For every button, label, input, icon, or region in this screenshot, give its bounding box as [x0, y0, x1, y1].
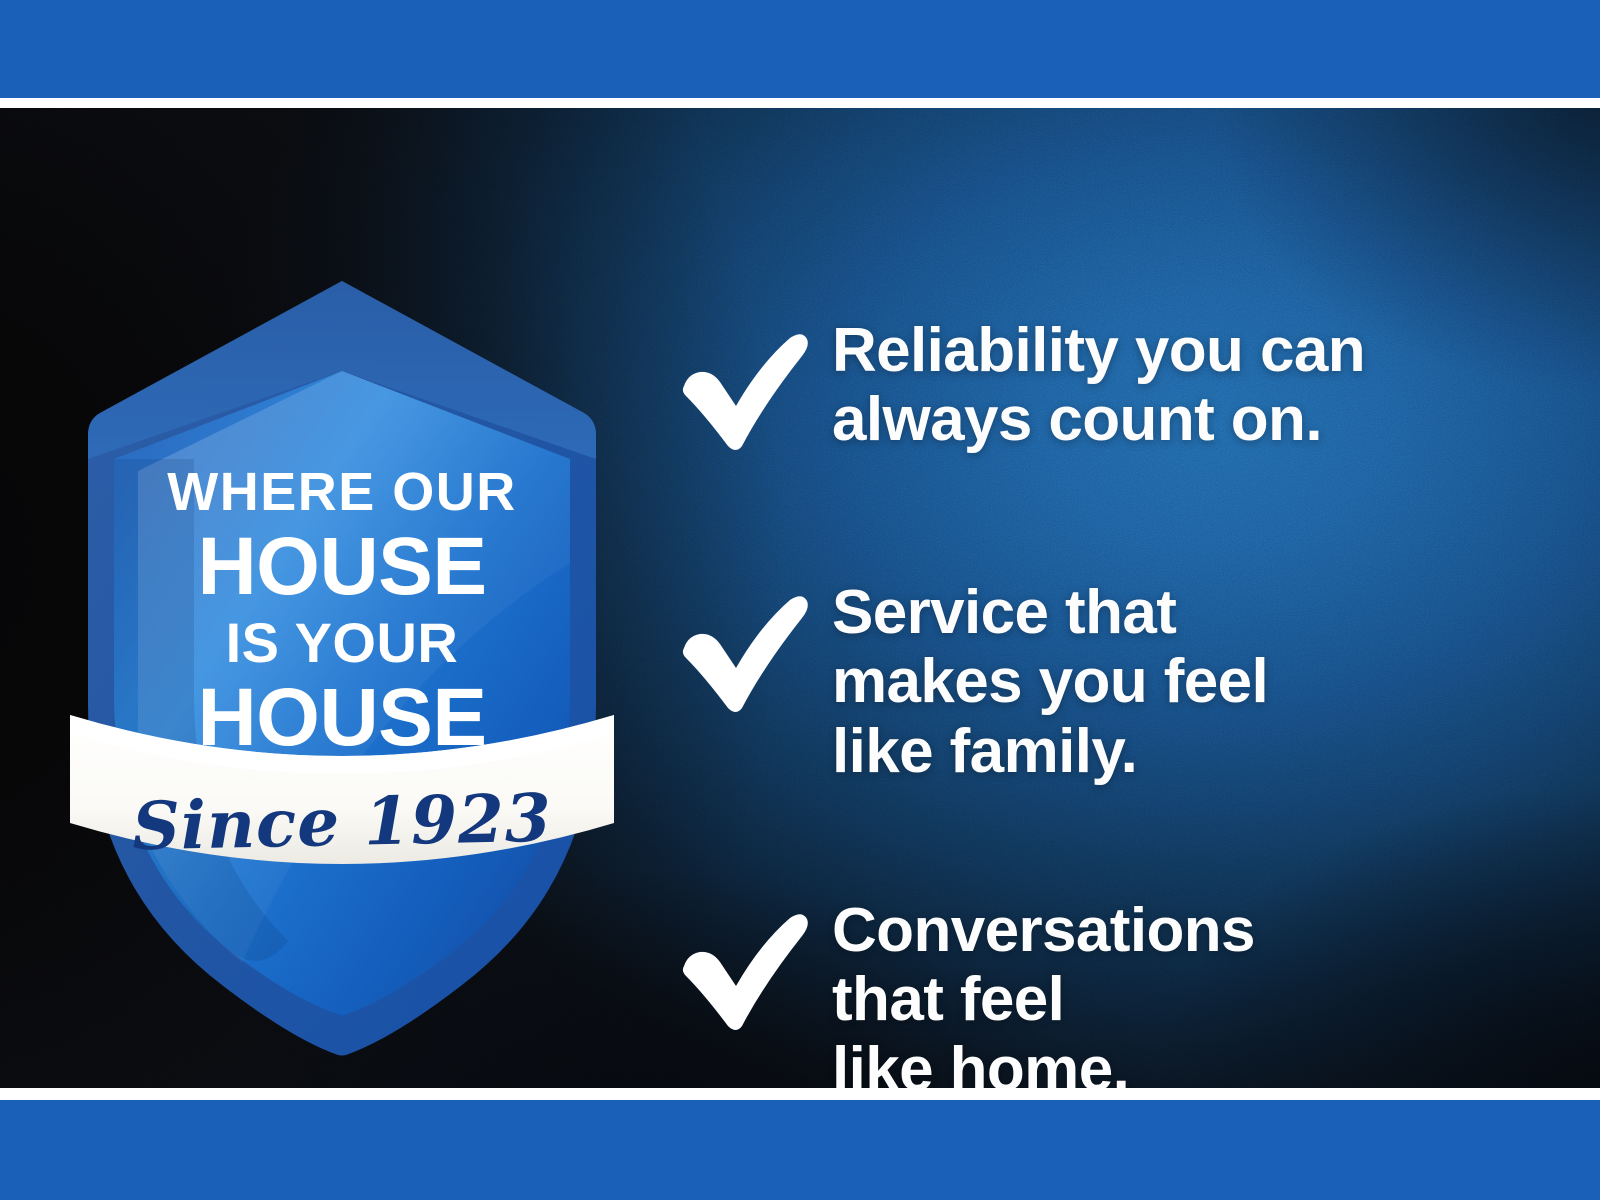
logo-line-1: WHERE OUR [62, 465, 622, 519]
list-item-label: Conversations that feel like home. [832, 896, 1255, 1088]
shield-logo: WHERE OUR HOUSE IS YOUR HOUSE Since 1923 [62, 263, 622, 1073]
check-icon [678, 910, 810, 1030]
top-divider [0, 98, 1600, 108]
bottom-brand-bar [0, 1100, 1600, 1200]
top-brand-bar [0, 0, 1600, 98]
logo-line-4: HOUSE [62, 677, 622, 759]
promo-graphic: WHERE OUR HOUSE IS YOUR HOUSE Since 1923… [0, 0, 1600, 1200]
list-item-label: Reliability you can always count on. [832, 316, 1365, 455]
logo-since-text: Since 1923 [61, 777, 623, 867]
logo-line-3: IS YOUR [62, 615, 622, 671]
bottom-divider [0, 1088, 1600, 1100]
check-icon [678, 592, 810, 712]
check-icon [678, 330, 810, 450]
list-item-label: Service that makes you feel like family. [832, 578, 1268, 786]
logo-line-2: HOUSE [62, 526, 622, 608]
main-panel: WHERE OUR HOUSE IS YOUR HOUSE Since 1923… [0, 108, 1600, 1088]
